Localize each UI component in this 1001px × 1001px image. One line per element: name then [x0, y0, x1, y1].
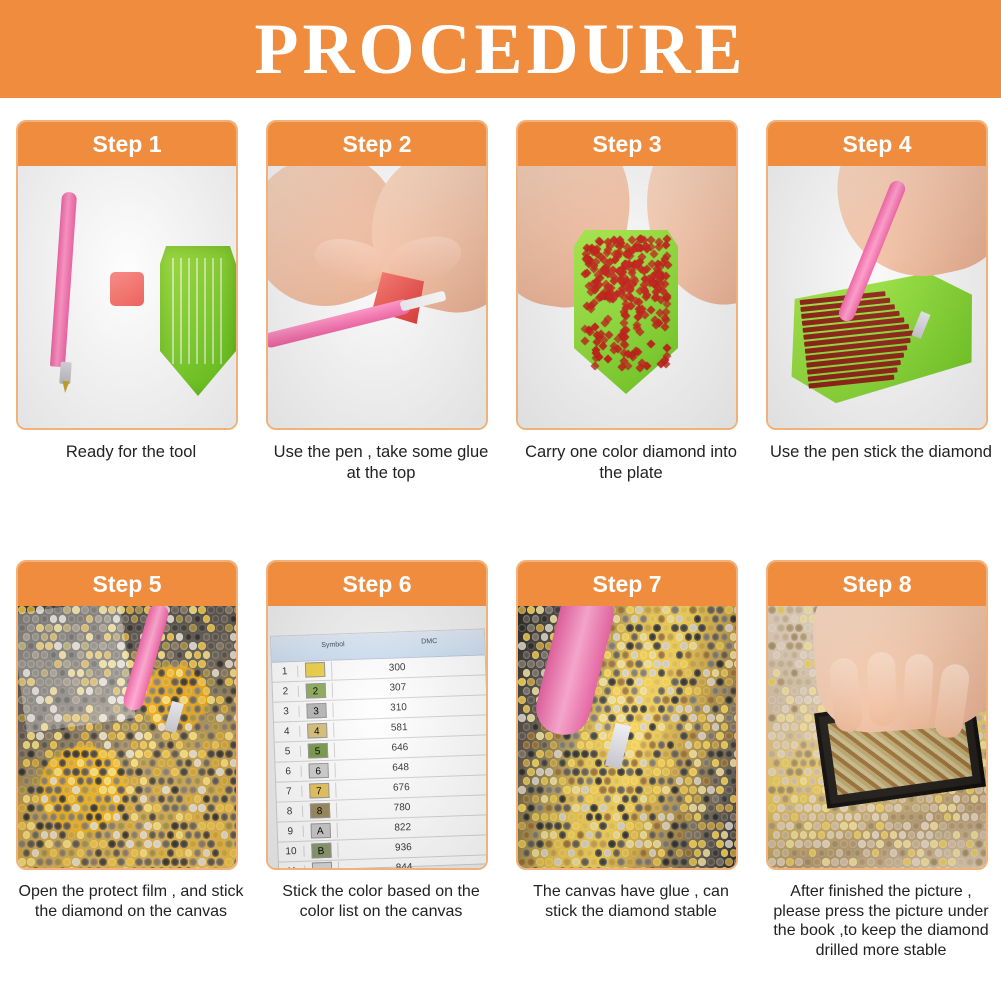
protect-film-icon: [18, 606, 136, 733]
step-caption-6: Stick the color based on the color list …: [266, 882, 496, 921]
chart-cell-no: 9: [278, 826, 304, 838]
step-card-6: Step 6 Symbol DMC 1300223073331044581556…: [266, 560, 488, 870]
chart-cell-count: 780: [377, 801, 427, 814]
step-cell-4: Step 4 Use the pen stick the diamond: [752, 98, 1001, 538]
chart-cell-no: 1: [272, 666, 298, 678]
chart-cell-code: [332, 669, 372, 670]
step-label-3: Step 3: [592, 131, 661, 158]
step-card-4: Step 4: [766, 120, 988, 430]
chart-cell-count: 646: [375, 741, 425, 754]
step-header-2: Step 2: [268, 122, 486, 166]
step-cell-7: Step 7 The canvas have glue , can stick …: [502, 538, 752, 968]
step-caption-1: Ready for the tool: [16, 442, 246, 463]
step-image-1: [18, 166, 236, 428]
step-caption-7: The canvas have glue , can stick the dia…: [516, 882, 746, 921]
step-card-7: Step 7: [516, 560, 738, 870]
step-image-4: [768, 166, 986, 428]
step-label-6: Step 6: [342, 571, 411, 598]
page-header: PROCEDURE: [0, 0, 1001, 98]
color-list-chart: Symbol DMC 13002230733310445815564666648…: [270, 628, 486, 868]
chart-cell-symbol: 7: [302, 783, 337, 799]
step-cell-8: Step 8 After finished the picture , plea…: [752, 538, 1001, 968]
step-cell-6: Step 6 Symbol DMC 1300223073331044581556…: [252, 538, 502, 968]
step-image-2: [268, 166, 486, 428]
chart-cell-no: 10: [278, 846, 304, 858]
step-card-5: Step 5: [16, 560, 238, 870]
pink-pen-icon: [268, 298, 412, 349]
glue-wax-icon: [110, 272, 144, 306]
step-cell-2: Step 2 Use the pen , take some glue: [252, 98, 502, 538]
step-header-7: Step 7: [518, 562, 736, 606]
chart-cell-code: [333, 689, 373, 690]
chart-cell-code: [336, 789, 376, 790]
chart-cell-code: [334, 709, 374, 710]
chart-cell-code: [335, 749, 375, 750]
step-label-1: Step 1: [92, 131, 161, 158]
steps-grid: Step 1 Ready for the tool Step 2: [0, 98, 1001, 1001]
step-caption-3: Carry one color diamond into the plate: [516, 442, 746, 484]
red-diamonds-group: [582, 232, 670, 368]
chart-cell-symbol: B: [304, 843, 339, 859]
diamond-rows-group: [800, 284, 959, 391]
page-title: PROCEDURE: [254, 13, 746, 85]
chart-cell-code: [338, 829, 378, 830]
chart-header-dmc: DMC: [421, 638, 437, 646]
chart-cell-count: 844: [379, 861, 429, 868]
chart-cell-no: 8: [277, 806, 303, 818]
chart-cell-code: [336, 769, 376, 770]
step-label-4: Step 4: [842, 131, 911, 158]
chart-cell-count: 300: [372, 662, 422, 675]
chart-cell-symbol: 5: [301, 743, 336, 759]
chart-header-symbol: Symbol: [321, 641, 345, 649]
chart-cell-no: 4: [274, 726, 300, 738]
chart-cell-symbol: 6: [301, 763, 336, 779]
step-header-6: Step 6: [268, 562, 486, 606]
chart-cell-no: 6: [276, 766, 302, 778]
step-header-5: Step 5: [18, 562, 236, 606]
chart-cell-no: 3: [273, 706, 299, 718]
step-image-3: [518, 166, 736, 428]
chart-cell-no: 2: [273, 686, 299, 698]
step-header-3: Step 3: [518, 122, 736, 166]
chart-rows: 1300223073331044581556466664877676887809…: [272, 655, 486, 868]
chart-cell-code: [337, 809, 377, 810]
procedure-poster: PROCEDURE Step 1 Ready for the tool: [0, 0, 1001, 1001]
step-label-2: Step 2: [342, 131, 411, 158]
chart-cell-no: 7: [276, 786, 302, 798]
step-caption-4: Use the pen stick the diamond: [766, 442, 996, 463]
chart-cell-count: 936: [378, 841, 428, 854]
chart-cell-count: 676: [376, 781, 426, 794]
chart-cell-symbol: 2: [299, 683, 334, 699]
step-image-7: [518, 606, 736, 868]
step-cell-1: Step 1 Ready for the tool: [2, 98, 252, 538]
step-image-8: [768, 606, 986, 868]
step-label-7: Step 7: [592, 571, 661, 598]
chart-cell-symbol: [298, 661, 333, 680]
chart-cell-count: 581: [374, 721, 424, 734]
chart-cell-symbol: [305, 861, 340, 868]
chart-cell-count: 648: [375, 761, 425, 774]
chart-cell-symbol: A: [304, 823, 339, 839]
step-card-8: Step 8: [766, 560, 988, 870]
step-label-5: Step 5: [92, 571, 161, 598]
chart-cell-count: 307: [373, 682, 423, 695]
step-caption-5: Open the protect film , and stick the di…: [16, 882, 246, 921]
step-card-2: Step 2: [266, 120, 488, 430]
chart-cell-symbol: 4: [300, 723, 335, 739]
chart-cell-no: 5: [275, 746, 301, 758]
step-card-1: Step 1: [16, 120, 238, 430]
chart-cell-code: [338, 849, 378, 850]
chart-cell-no: 11: [279, 866, 305, 868]
step-header-8: Step 8: [768, 562, 986, 606]
step-cell-5: Step 5 Open the protect film , and stick…: [2, 538, 252, 968]
step-image-6: Symbol DMC 13002230733310445815564666648…: [268, 606, 486, 868]
step-caption-2: Use the pen , take some glue at the top: [266, 442, 496, 484]
chart-cell-count: 822: [378, 821, 428, 834]
chart-cell-symbol: 3: [299, 703, 334, 719]
pen-tip-icon: [59, 362, 72, 385]
step-header-1: Step 1: [18, 122, 236, 166]
chart-cell-code: [334, 729, 374, 730]
chart-cell-count: 310: [373, 702, 423, 715]
step-cell-3: Step 3 Carry one color diamond into the …: [502, 98, 752, 538]
step-header-4: Step 4: [768, 122, 986, 166]
step-image-5: [18, 606, 236, 868]
step-label-8: Step 8: [842, 571, 911, 598]
step-caption-8: After finished the picture , please pres…: [766, 882, 996, 960]
step-card-3: Step 3: [516, 120, 738, 430]
chart-cell-symbol: 8: [303, 803, 338, 819]
